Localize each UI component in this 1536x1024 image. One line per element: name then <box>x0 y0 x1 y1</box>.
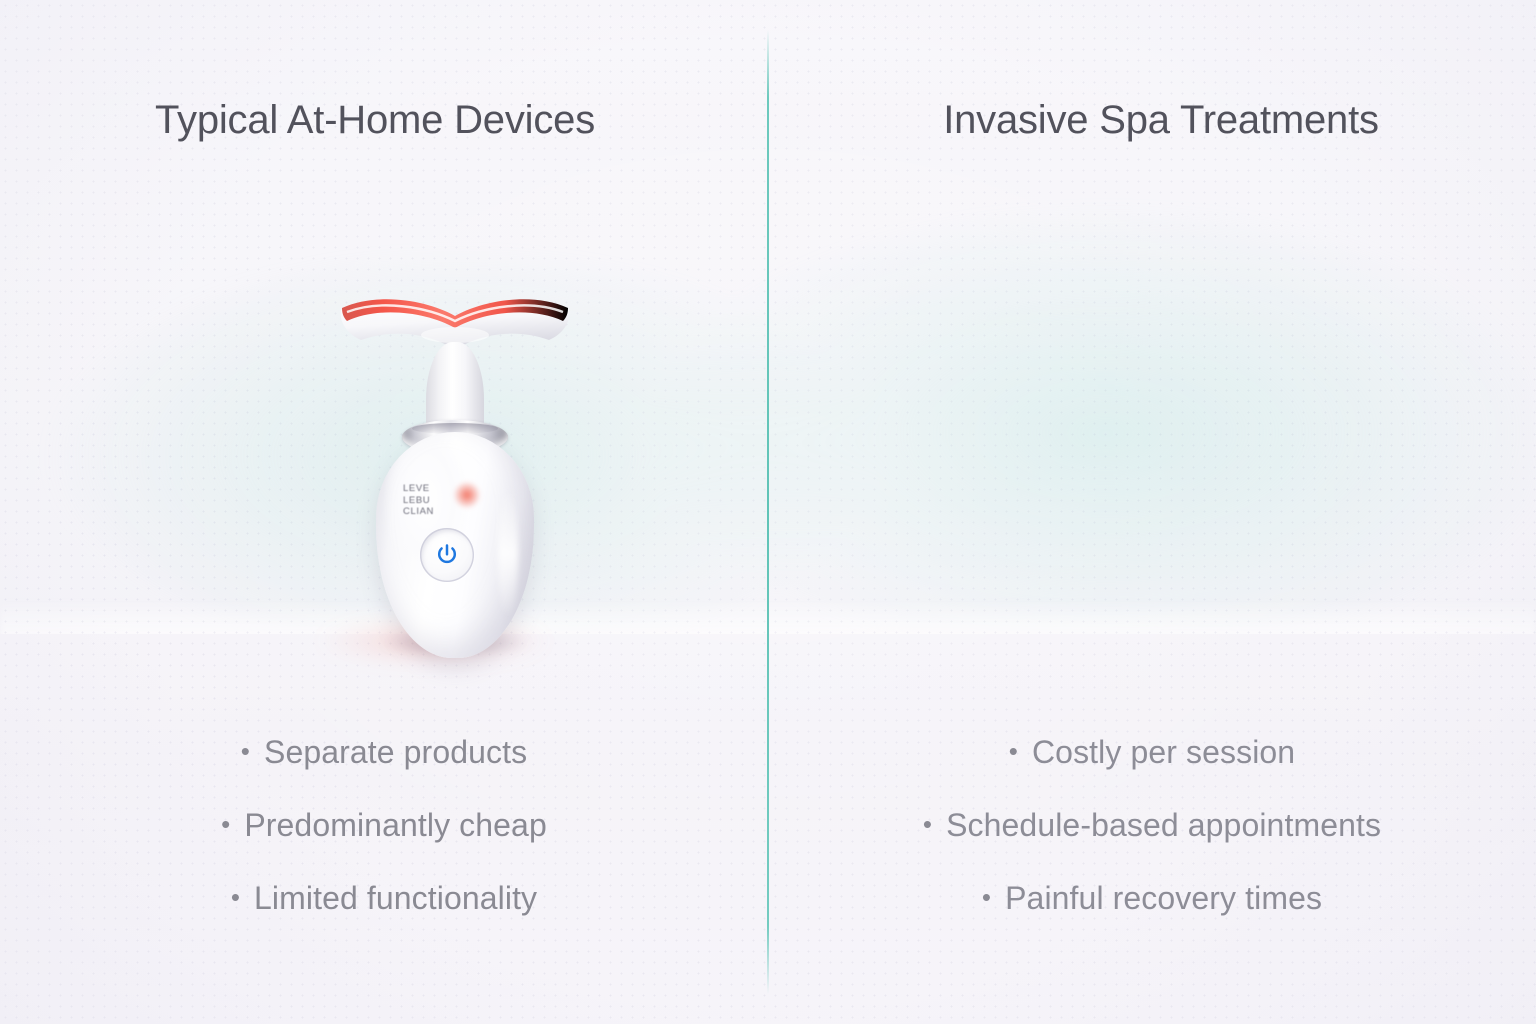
bullet-marker: • <box>1009 738 1018 764</box>
column-spa-treatments: Invasive Spa Treatments MODE SET Mm ʃɔ 0… <box>768 0 1536 1024</box>
power-button[interactable] <box>420 528 474 582</box>
device-brand-label-line-3: CLIAN <box>403 506 475 518</box>
list-item: • Costly per session <box>1009 734 1295 771</box>
bullet-text: Limited functionality <box>254 880 537 917</box>
list-item: • Predominantly cheap <box>221 807 547 844</box>
bullet-marker: • <box>241 738 250 764</box>
bullet-list-spa: • Costly per session • Schedule-based ap… <box>768 734 1536 917</box>
list-item: • Schedule-based appointments <box>923 807 1381 844</box>
device-at-home-led-neck-wand: LEVE LEBU CLIAN <box>330 288 580 680</box>
bullet-list-at-home: • Separate products • Predominantly chea… <box>0 734 768 917</box>
list-item: • Painful recovery times <box>982 880 1322 917</box>
bullet-text: Schedule-based appointments <box>946 807 1381 844</box>
bullet-marker: • <box>221 811 230 837</box>
bullet-text: Predominantly cheap <box>244 807 547 844</box>
column-at-home-devices: Typical At-Home Devices <box>0 0 768 1024</box>
heading-spa-treatments: Invasive Spa Treatments <box>768 98 1536 143</box>
device-brand-label-line-2: LEBU <box>403 495 475 507</box>
comparison-infographic: Typical At-Home Devices <box>0 0 1536 1024</box>
list-item: • Limited functionality <box>231 880 537 917</box>
bullet-text: Painful recovery times <box>1005 880 1322 917</box>
device-brand-label: LEVE LEBU CLIAN <box>403 483 475 518</box>
bullet-marker: • <box>982 884 991 910</box>
bullet-marker: • <box>231 884 240 910</box>
bullet-text: Separate products <box>264 734 527 771</box>
device-brand-label-line-1: LEVE <box>403 483 475 495</box>
power-icon <box>434 542 460 568</box>
list-item: • Separate products <box>241 734 527 771</box>
heading-at-home-devices: Typical At-Home Devices <box>0 98 768 143</box>
bullet-marker: • <box>923 811 932 837</box>
bullet-text: Costly per session <box>1032 734 1295 771</box>
